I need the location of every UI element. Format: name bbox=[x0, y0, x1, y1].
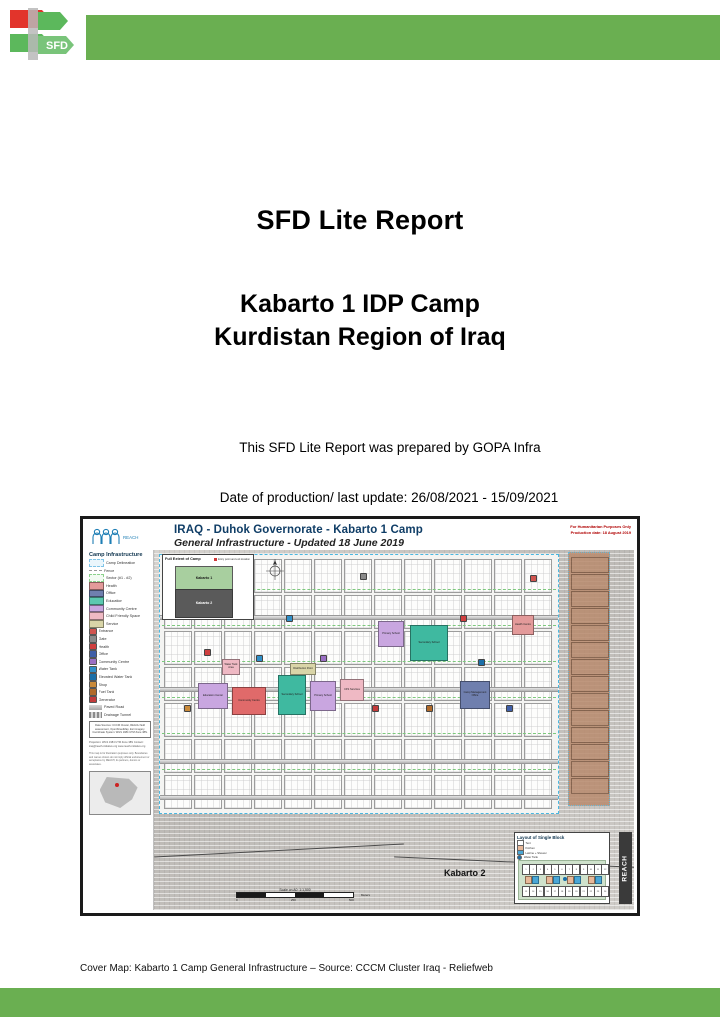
camp-block bbox=[434, 559, 462, 593]
camp-block bbox=[224, 739, 252, 773]
camp-block bbox=[314, 559, 342, 593]
camp-block bbox=[284, 775, 312, 809]
legend-label: Health bbox=[99, 645, 110, 649]
inset-key-label: Entry point and exit location bbox=[218, 558, 250, 561]
north-arrow-icon bbox=[266, 558, 284, 580]
expansion-lot bbox=[571, 557, 608, 573]
legend-item-8: Service bbox=[89, 621, 151, 627]
camp-block bbox=[434, 775, 462, 809]
legend-point-icon bbox=[89, 696, 97, 704]
inset-area-kabarto-2: Kabarto 2 bbox=[175, 589, 233, 619]
legend-item-10: Gate bbox=[89, 636, 151, 642]
legend-label: Office bbox=[99, 652, 109, 656]
expansion-lot bbox=[571, 608, 608, 624]
block-latrine bbox=[595, 876, 602, 884]
map-canvas[interactable]: Education CenterCommunity CentreSecondar… bbox=[154, 550, 634, 910]
camp-block bbox=[344, 559, 372, 593]
subtitle-line-2: Kurdistan Region of Iraq bbox=[0, 321, 720, 354]
block-legend-label: Water Tank bbox=[524, 855, 538, 859]
production-date-text: Date of production/ last update: 26/08/2… bbox=[0, 490, 720, 505]
legend-item-17: Fuel Tank bbox=[89, 689, 151, 695]
legend-label: Fuel Tank bbox=[99, 690, 115, 694]
legend-swatch-road bbox=[89, 705, 102, 711]
legend-item-18: Generator bbox=[89, 697, 151, 703]
camp-block bbox=[284, 595, 312, 629]
facility-polygon: Water Tank Area bbox=[222, 659, 240, 675]
expansion-lot bbox=[571, 727, 608, 743]
legend-label: Community Centre bbox=[99, 660, 130, 664]
legend-label: Entrance bbox=[99, 629, 114, 633]
legend-label: Service bbox=[106, 622, 118, 626]
camp-block bbox=[434, 595, 462, 629]
block-kitchen bbox=[525, 876, 532, 884]
legend-items: Camp DelineationFenceSector (#1 - #2)Hea… bbox=[89, 560, 151, 718]
sector-boundary bbox=[162, 625, 556, 626]
expansion-lot bbox=[571, 659, 608, 675]
camp-block bbox=[164, 667, 192, 701]
facility-point-icon bbox=[360, 573, 367, 580]
legend-point-icon bbox=[89, 635, 97, 643]
camp-block bbox=[494, 667, 522, 701]
sfd-logo: SFD bbox=[8, 8, 80, 60]
block-legend-label: Kitchen bbox=[526, 846, 535, 850]
legend-swatch-fill bbox=[89, 590, 104, 598]
map-disclaimer-line-1: For Humanitarian Purposes Only bbox=[570, 524, 631, 530]
block-panel-legend: TentKitchenLatrine + ShowerWater Tank bbox=[517, 841, 607, 859]
legend-swatch-fill bbox=[89, 620, 104, 628]
legend-label: Fence bbox=[104, 569, 114, 573]
camp-block bbox=[524, 739, 552, 773]
camp-block bbox=[284, 559, 312, 593]
legend-item-12: Office bbox=[89, 651, 151, 657]
legend-label: Camp Delineation bbox=[106, 561, 135, 565]
camp-block bbox=[254, 775, 282, 809]
block-latrine bbox=[553, 876, 560, 884]
prepared-by-block: This SFD Lite Report was prepared by GOP… bbox=[0, 440, 720, 455]
facility-point-icon bbox=[372, 705, 379, 712]
legend-item-13: Community Centre bbox=[89, 659, 151, 665]
legend-label: Health bbox=[106, 584, 117, 588]
camp-block bbox=[164, 739, 192, 773]
camp-block bbox=[524, 775, 552, 809]
camp-block bbox=[524, 703, 552, 737]
legend-label: Generator bbox=[99, 698, 116, 702]
camp-block bbox=[434, 667, 462, 701]
camp-block bbox=[314, 739, 342, 773]
map-title-bar: REACH IRAQ - Duhok Governorate - Kabarto… bbox=[86, 522, 634, 551]
legend-point-icon bbox=[89, 681, 97, 689]
block-latrine bbox=[532, 876, 539, 884]
scale-tick: 500 bbox=[349, 898, 354, 902]
map-title: IRAQ - Duhok Governorate - Kabarto 1 Cam… bbox=[174, 524, 423, 536]
legend-label: Drainage Tunnel bbox=[104, 713, 131, 717]
legend-item-19: Paved Road bbox=[89, 704, 151, 710]
facility-polygon: Primary School bbox=[310, 681, 336, 711]
legend-item-3: Health bbox=[89, 583, 151, 589]
page-subtitle: Kabarto 1 IDP Camp Kurdistan Region of I… bbox=[0, 288, 720, 354]
legend-item-9: Entrance bbox=[89, 628, 151, 634]
page-header: SFD bbox=[0, 0, 720, 68]
block-legend-label: Tent bbox=[526, 841, 531, 845]
legend-swatch-fill bbox=[89, 582, 104, 590]
legend-point-icon bbox=[89, 628, 97, 636]
camp-block bbox=[254, 739, 282, 773]
block-legend-item-3: Water Tank bbox=[517, 855, 607, 859]
legend-label: Education bbox=[106, 599, 122, 603]
legend-item-1: Fence bbox=[89, 568, 151, 574]
camp-block bbox=[164, 775, 192, 809]
facility-point-icon bbox=[426, 705, 433, 712]
camp-block bbox=[224, 775, 252, 809]
cover-map: REACH IRAQ - Duhok Governorate - Kabarto… bbox=[80, 516, 640, 916]
legend-item-0: Camp Delineation bbox=[89, 560, 151, 566]
expansion-lot bbox=[571, 778, 608, 794]
map-disclaimer: For Humanitarian Purposes Only Productio… bbox=[570, 524, 631, 536]
sector-boundary bbox=[162, 733, 556, 734]
reach-side-text: REACH bbox=[622, 855, 629, 881]
facility-polygon: Primary School bbox=[378, 621, 404, 647]
paved-road bbox=[160, 795, 558, 800]
camp-block bbox=[494, 775, 522, 809]
facility-point-icon bbox=[320, 655, 327, 662]
camp-block bbox=[464, 559, 492, 593]
camp-block bbox=[344, 595, 372, 629]
facility-polygon: Camp Management Office bbox=[460, 681, 490, 709]
legend-item-2: Sector (#1 - #2) bbox=[89, 575, 151, 581]
camp-block bbox=[434, 739, 462, 773]
inset-label-kabarto-2: Kabarto 2 bbox=[176, 601, 232, 605]
legend-disclaimer: This map is for illustration purposes on… bbox=[89, 752, 151, 767]
scale-tick: 0 bbox=[236, 898, 238, 902]
legend-item-14: Water Tank bbox=[89, 666, 151, 672]
prepared-by-text: This SFD Lite Report was prepared by GOP… bbox=[0, 440, 720, 455]
block-kitchen bbox=[546, 876, 553, 884]
legend-item-7: Child Friendly Space bbox=[89, 613, 151, 619]
scale-ticks: 0250500 bbox=[236, 898, 354, 902]
camp-block bbox=[494, 631, 522, 665]
block-kitchen bbox=[588, 876, 595, 884]
scale-unit: Meters bbox=[361, 893, 370, 897]
camp-block bbox=[344, 631, 372, 665]
locator-marker-icon bbox=[115, 783, 119, 787]
legend-label: Sector (#1 - #2) bbox=[106, 576, 132, 580]
camp-block bbox=[284, 739, 312, 773]
map-inner: REACH IRAQ - Duhok Governorate - Kabarto… bbox=[86, 522, 634, 910]
expansion-lot bbox=[571, 693, 608, 709]
block-layout-panel: Layout of Single Block TentKitchenLatrin… bbox=[514, 832, 610, 904]
legend-point-icon bbox=[89, 666, 97, 674]
map-disclaimer-line-2: Production date: 18 August 2019 bbox=[570, 530, 631, 536]
legend-label: Paved Road bbox=[104, 705, 124, 709]
legend-item-11: Health bbox=[89, 644, 151, 650]
legend-point-icon bbox=[89, 658, 97, 666]
camp-block bbox=[314, 631, 342, 665]
camp-block bbox=[494, 739, 522, 773]
map-caption: Cover Map: Kabarto 1 Camp General Infras… bbox=[80, 963, 493, 974]
block-tent: 12 bbox=[601, 864, 609, 875]
reach-wordmark: REACH bbox=[123, 535, 138, 540]
expansion-lot bbox=[571, 744, 608, 760]
legend-swatch-dash bbox=[89, 559, 104, 567]
camp-block bbox=[524, 631, 552, 665]
camp-block bbox=[164, 631, 192, 665]
reach-logo-icon: REACH bbox=[90, 526, 152, 546]
block-legend-item-1: Kitchen bbox=[517, 846, 607, 850]
facility-polygon: CFS Services bbox=[340, 679, 364, 701]
expansion-lot bbox=[571, 676, 608, 692]
camp-block bbox=[494, 559, 522, 593]
sector-boundary bbox=[162, 769, 556, 770]
camp-block bbox=[404, 739, 432, 773]
legend-point-icon bbox=[89, 688, 97, 696]
block-legend-item-0: Tent bbox=[517, 841, 607, 845]
camp-block bbox=[464, 739, 492, 773]
legend-label: Water Tank bbox=[99, 667, 117, 671]
camp-block bbox=[404, 775, 432, 809]
area-label-kabarto-2: Kabarto 2 bbox=[444, 868, 486, 878]
camp-block bbox=[374, 775, 402, 809]
camp-block bbox=[524, 667, 552, 701]
camp-block bbox=[194, 631, 222, 665]
iraq-outline-shape bbox=[100, 777, 140, 808]
legend-point-icon bbox=[89, 673, 97, 681]
camp-block bbox=[314, 595, 342, 629]
facility-polygon: Education Center bbox=[198, 683, 228, 709]
camp-block bbox=[374, 739, 402, 773]
legend-swatch-line bbox=[89, 570, 102, 571]
camp-block bbox=[524, 559, 552, 593]
facility-point-icon bbox=[286, 615, 293, 622]
legend-point-icon bbox=[89, 650, 97, 658]
camp-block bbox=[194, 775, 222, 809]
legend-label: Gate bbox=[99, 637, 107, 641]
inset-label-kabarto-1: Kabarto 1 bbox=[176, 576, 232, 580]
expansion-lot bbox=[571, 761, 608, 777]
camp-block bbox=[464, 595, 492, 629]
legend-item-16: Shop bbox=[89, 682, 151, 688]
cover-title-block: SFD Lite Report Kabarto 1 IDP Camp Kurdi… bbox=[0, 205, 720, 354]
block-latrine bbox=[574, 876, 581, 884]
facility-point-icon bbox=[204, 649, 211, 656]
legend-source-note: Data Sources: CCCM Cluster, REACH field … bbox=[89, 721, 151, 738]
camp-block bbox=[434, 703, 462, 737]
inset-key: Entry point and exit location bbox=[214, 558, 250, 562]
block-legend-item-2: Latrine + Shower bbox=[517, 851, 607, 855]
facility-point-icon bbox=[506, 705, 513, 712]
scale-tick: 250 bbox=[291, 898, 296, 902]
reach-side-logo: REACH bbox=[619, 832, 632, 904]
block-layout-diagram: 113214315416517618719820921102211231224 bbox=[518, 860, 606, 900]
full-extent-inset: Full Extent of Camp Kabarto 1 Kabarto 2 … bbox=[162, 554, 254, 620]
legend-label: Shop bbox=[99, 683, 108, 687]
legend-label: Office bbox=[106, 591, 116, 595]
header-green-bar bbox=[86, 15, 720, 60]
facility-polygon: Secondary School bbox=[410, 625, 448, 661]
map-subtitle: General Infrastructure - Updated 18 June… bbox=[174, 537, 404, 549]
legend-swatch-fill bbox=[89, 605, 104, 613]
legend-item-20: Drainage Tunnel bbox=[89, 712, 151, 718]
map-legend: Camp Infrastructure Camp DelineationFenc… bbox=[86, 550, 154, 910]
camp-block bbox=[194, 739, 222, 773]
camp-block bbox=[374, 667, 402, 701]
block-water-tank bbox=[563, 877, 567, 881]
camp-block bbox=[254, 595, 282, 629]
legend-item-6: Community Centre bbox=[89, 606, 151, 612]
block-tent: 24 bbox=[601, 886, 609, 897]
facility-polygon: Community Centre bbox=[232, 687, 266, 715]
camp-block bbox=[344, 739, 372, 773]
inset-shape: Kabarto 1 Kabarto 2 bbox=[175, 566, 231, 616]
facility-polygon: Health Centre bbox=[512, 615, 534, 635]
paved-road bbox=[160, 759, 558, 764]
subtitle-line-1: Kabarto 1 IDP Camp bbox=[0, 288, 720, 321]
camp-block bbox=[284, 631, 312, 665]
legend-item-15: Elevated Water Tank bbox=[89, 674, 151, 680]
facility-point-icon bbox=[478, 659, 485, 666]
expansion-lot bbox=[571, 574, 608, 590]
page-title: SFD Lite Report bbox=[0, 205, 720, 236]
locator-map bbox=[89, 771, 151, 815]
wadi-line-west bbox=[154, 843, 404, 857]
legend-title: Camp Infrastructure bbox=[89, 552, 151, 558]
camp-block bbox=[344, 775, 372, 809]
expansion-lot bbox=[571, 642, 608, 658]
facility-polygon: Distribution Point bbox=[290, 663, 316, 675]
inset-area-kabarto-1: Kabarto 1 bbox=[175, 566, 233, 591]
east-expansion-zone bbox=[568, 552, 610, 806]
facility-polygon: Secondary School bbox=[278, 675, 306, 715]
camp-block bbox=[404, 667, 432, 701]
facility-point-icon bbox=[184, 705, 191, 712]
camp-block bbox=[344, 703, 372, 737]
legend-metadata: Projection: WGS 1984 UTM Zone 38N Contac… bbox=[89, 741, 151, 749]
legend-swatch-tunnel bbox=[89, 712, 102, 718]
camp-block bbox=[374, 559, 402, 593]
legend-swatch-fill bbox=[89, 597, 104, 605]
expansion-lot bbox=[571, 591, 608, 607]
legend-label: Community Centre bbox=[106, 607, 137, 611]
sfd-logo-text: SFD bbox=[46, 40, 68, 52]
facility-point-icon bbox=[530, 575, 537, 582]
legend-swatch-fill bbox=[89, 612, 104, 620]
legend-swatch-sector bbox=[89, 574, 104, 582]
legend-label: Elevated Water Tank bbox=[99, 675, 133, 679]
block-legend-label: Latrine + Shower bbox=[526, 851, 547, 855]
legend-point-icon bbox=[89, 643, 97, 651]
footer-green-bar bbox=[0, 988, 720, 1017]
legend-label: Child Friendly Space bbox=[106, 614, 140, 618]
expansion-lot bbox=[571, 710, 608, 726]
block-panel-title: Layout of Single Block bbox=[517, 835, 607, 840]
camp-block bbox=[404, 595, 432, 629]
legend-item-5: Education bbox=[89, 598, 151, 604]
block-kitchen bbox=[567, 876, 574, 884]
scale-bar: Scale on A0: 1:1,500 0250500 Meters bbox=[236, 888, 354, 903]
facility-point-icon bbox=[256, 655, 263, 662]
legend-item-4: Office bbox=[89, 590, 151, 596]
facility-point-icon bbox=[460, 615, 467, 622]
camp-block bbox=[404, 559, 432, 593]
scale-bar-graphic bbox=[236, 892, 354, 898]
entry-point-icon bbox=[214, 558, 217, 561]
expansion-lot bbox=[571, 625, 608, 641]
camp-block bbox=[464, 775, 492, 809]
camp-block bbox=[314, 775, 342, 809]
